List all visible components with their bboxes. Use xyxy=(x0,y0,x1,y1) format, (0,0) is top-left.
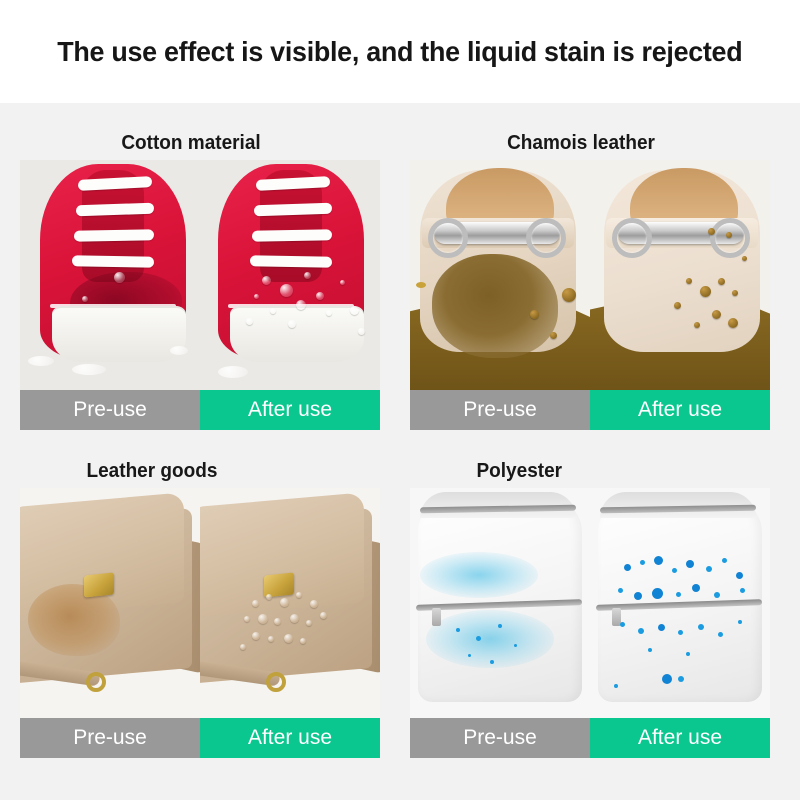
photo-polyester-after xyxy=(590,488,770,718)
label-pre-use-leather: Pre-use xyxy=(20,718,200,758)
panel-title-polyester: Polyester xyxy=(410,454,752,488)
photo-chamois-after xyxy=(590,160,770,390)
photo-leather-after xyxy=(200,488,380,718)
photo-chamois-leather xyxy=(410,160,770,390)
panel-title-chamois-leather: Chamois leather xyxy=(410,126,752,160)
label-after-use-chamois: After use xyxy=(590,390,770,430)
label-bar-chamois-leather: Pre-use After use xyxy=(410,390,770,430)
header-banner: The use effect is visible, and the liqui… xyxy=(0,0,800,103)
label-pre-use-polyester: Pre-use xyxy=(410,718,590,758)
photo-polyester-before xyxy=(410,488,590,718)
photo-leather-before xyxy=(20,488,200,718)
label-pre-use-cotton: Pre-use xyxy=(20,390,200,430)
label-after-use-polyester: After use xyxy=(590,718,770,758)
panel-title-leather-goods: Leather goods xyxy=(20,454,362,488)
page-title: The use effect is visible, and the liqui… xyxy=(57,36,742,68)
label-bar-leather-goods: Pre-use After use xyxy=(20,718,380,758)
label-bar-polyester: Pre-use After use xyxy=(410,718,770,758)
panel-title-cotton-material: Cotton material xyxy=(20,126,362,160)
label-pre-use-chamois: Pre-use xyxy=(410,390,590,430)
comparison-grid: Cotton material xyxy=(0,103,800,800)
photo-cotton-after xyxy=(200,160,380,390)
panel-polyester: Polyester xyxy=(410,454,770,758)
label-after-use-cotton: After use xyxy=(200,390,380,430)
panel-cotton-material: Cotton material xyxy=(20,126,380,430)
label-bar-cotton-material: Pre-use After use xyxy=(20,390,380,430)
photo-leather-goods xyxy=(20,488,380,718)
label-after-use-leather: After use xyxy=(200,718,380,758)
photo-cotton-material xyxy=(20,160,380,390)
panel-chamois-leather: Chamois leather xyxy=(410,126,770,430)
photo-chamois-before xyxy=(410,160,590,390)
panel-leather-goods: Leather goods xyxy=(20,454,380,758)
photo-polyester xyxy=(410,488,770,718)
photo-cotton-before xyxy=(20,160,200,390)
